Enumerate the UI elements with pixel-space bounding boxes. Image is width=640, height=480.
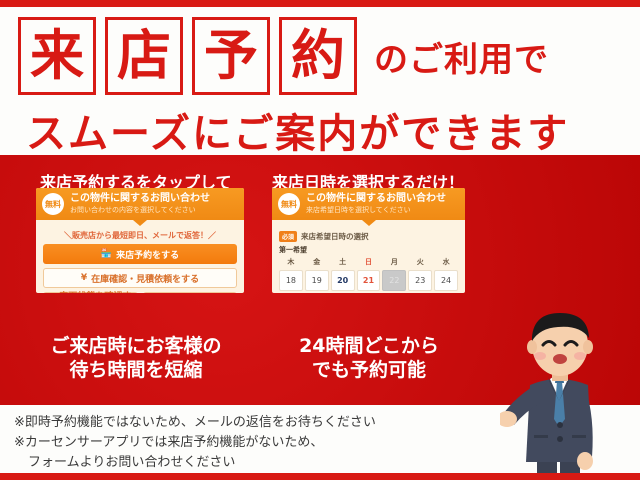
- headline-row-1: 来 店 予 約 のご利用で: [18, 17, 549, 95]
- day-number: 19: [312, 277, 322, 285]
- left-caption-line1: ご来店時にお客様の: [16, 335, 256, 359]
- visit-reservation-banner: 来 店 予 約 のご利用で スムーズにご案内ができます 来店予約するをタップして…: [0, 0, 640, 480]
- kanji-box-3: 予: [192, 17, 270, 95]
- left-caption: ご来店時にお客様の 待ち時間を短縮: [16, 335, 256, 383]
- inquiry-header-subtitle: お問い合わせの内容を選択してください: [70, 206, 210, 215]
- calendar-section-label: 来店希望日時の選択: [301, 231, 369, 242]
- inquiry-header-text: この物件に関するお問い合わせ お問い合わせの内容を選択してください: [70, 193, 210, 214]
- vehicle-condition-button[interactable]: 🚗 車両状態を確認する: [43, 292, 138, 293]
- calendar-header-text: この物件に関するお問い合わせ 来店希望日時を選択してください: [306, 193, 446, 214]
- day-number: 24: [441, 277, 451, 285]
- day-number: 23: [415, 277, 425, 285]
- reserve-visit-button[interactable]: 🏪 来店予約をする: [43, 244, 237, 264]
- left-caption-line2: 待ち時間を短縮: [16, 359, 256, 383]
- footer-note-1: ※即時予約機能ではないため、メールの返信をお待ちください: [14, 413, 376, 433]
- day-number: 20: [337, 277, 348, 285]
- weekday-土: 土: [331, 257, 355, 268]
- secondary-button-row: 🚗 車両状態を確認する その他: [43, 292, 237, 293]
- calendar-day-23[interactable]: 23: [408, 270, 432, 291]
- calendar-day-19[interactable]: 19: [305, 270, 329, 291]
- footer-note-3: フォームよりお問い合わせください: [14, 453, 376, 473]
- weekday-木: 木: [279, 257, 303, 268]
- calendar-day-24[interactable]: 24: [434, 270, 458, 291]
- promo-line: ＼販売店から最短即日、メールで返答！／: [36, 226, 244, 244]
- date-grid: 181920212223242514時〜262728293031: [279, 270, 458, 293]
- stock-quote-button[interactable]: ¥ 在庫確認・見積依頼をする: [43, 268, 237, 288]
- kanji-box-4: 約: [279, 17, 357, 95]
- footer-note-2: ※カーセンサーアプリでは来店予約機能がないため、: [14, 433, 376, 453]
- kanji-box-1: 来: [18, 17, 96, 95]
- calendar-day-22: 22: [382, 270, 406, 291]
- other-button[interactable]: その他: [143, 292, 238, 293]
- calendar-day-20[interactable]: 20: [331, 270, 355, 291]
- inquiry-header-title: この物件に関するお問い合わせ: [70, 193, 210, 206]
- inquiry-form-card: 無料 この物件に関するお問い合わせ お問い合わせの内容を選択してください ＼販売…: [36, 188, 244, 293]
- day-number: 22: [389, 277, 399, 285]
- required-badge: 必須: [279, 231, 297, 242]
- yen-icon: ¥: [81, 274, 87, 283]
- calendar-header-subtitle: 来店希望日時を選択してください: [306, 206, 446, 215]
- free-badge: 無料: [278, 193, 300, 215]
- calendar-body: 必須 来店希望日時の選択 第一希望 木金土日月火水 18192021222324…: [272, 226, 465, 293]
- top-red-rule: [0, 0, 640, 7]
- weekday-金: 金: [305, 257, 329, 268]
- free-badge: 無料: [42, 193, 64, 215]
- vehicle-condition-label: 車両状態を確認する: [59, 289, 136, 293]
- headline-tail: のご利用で: [374, 32, 549, 81]
- weekday-日: 日: [357, 257, 381, 268]
- weekday-火: 火: [408, 257, 432, 268]
- kanji-box-2: 店: [105, 17, 183, 95]
- inquiry-card-header: 無料 この物件に関するお問い合わせ お問い合わせの内容を選択してください: [36, 188, 244, 220]
- footer-section: ※即時予約機能ではないため、メールの返信をお待ちください ※カーセンサーアプリで…: [0, 405, 640, 473]
- calendar-card: 無料 この物件に関するお問い合わせ 来店希望日時を選択してください 必須 来店希…: [272, 188, 465, 293]
- store-icon: 🏪: [101, 250, 112, 259]
- weekday-水: 水: [434, 257, 458, 268]
- calendar-header-title: この物件に関するお問い合わせ: [306, 193, 446, 206]
- right-caption-line2: でも予約可能: [266, 359, 472, 383]
- calendar-day-18[interactable]: 18: [279, 270, 303, 291]
- red-feature-band: 来店予約するをタップして 来店日時を選択するだけ！ 無料 この物件に関するお問い…: [0, 155, 640, 405]
- footer-notes: ※即時予約機能ではないため、メールの返信をお待ちください ※カーセンサーアプリで…: [14, 413, 376, 473]
- right-caption-line1: 24時間どこから: [266, 335, 472, 359]
- inquiry-button-group: 🏪 来店予約をする ¥ 在庫確認・見積依頼をする 🚗 車両状態を確認する その他: [36, 244, 244, 293]
- right-caption: 24時間どこから でも予約可能: [266, 335, 472, 383]
- stock-quote-label: 在庫確認・見積依頼をする: [91, 272, 199, 285]
- calendar-day-21[interactable]: 21: [357, 270, 381, 291]
- day-number: 18: [286, 277, 296, 285]
- calendar-section-header: 必須 来店希望日時の選択: [279, 231, 458, 242]
- weekday-header-row: 木金土日月火水: [279, 257, 458, 268]
- calendar-card-header: 無料 この物件に関するお問い合わせ 来店希望日時を選択してください: [272, 188, 465, 220]
- bottom-red-rule: [0, 473, 640, 480]
- headline-row-2: スムーズにご案内ができます: [26, 101, 626, 159]
- weekday-月: 月: [382, 257, 406, 268]
- day-number: 21: [363, 277, 374, 285]
- headline-section: 来 店 予 約 のご利用で スムーズにご案内ができます: [0, 7, 640, 155]
- reserve-visit-label: 来店予約をする: [116, 248, 179, 261]
- preference-label: 第一希望: [279, 245, 458, 255]
